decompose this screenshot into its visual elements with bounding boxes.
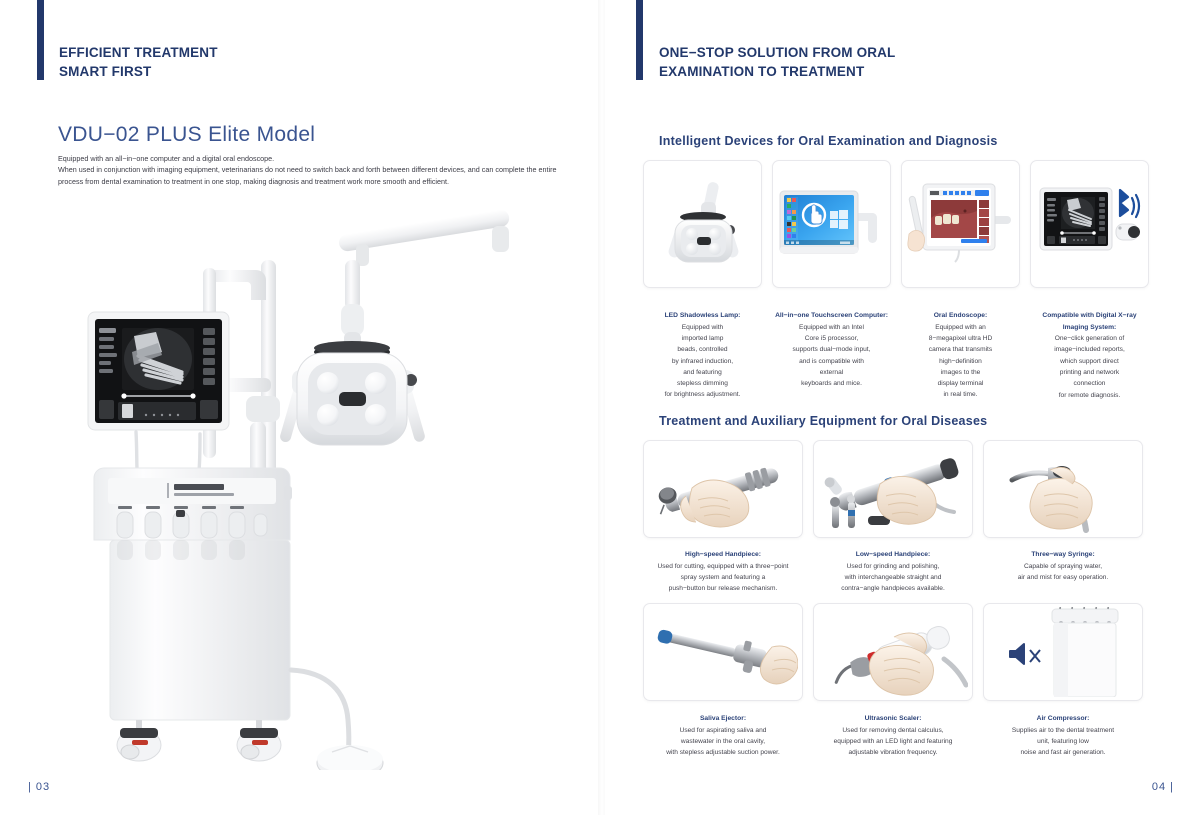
- lamp-arm-joint: [341, 260, 364, 354]
- page-title: VDU−02 PLUS Elite Model: [58, 123, 315, 147]
- caption-heading: LED Shadowless Lamp:: [643, 310, 762, 322]
- caption-heading: High−speed Handpiece:: [643, 549, 803, 561]
- caption-all-in-one-touchscreen-computer: All−in−one Touchscreen Computer: Equippe…: [772, 310, 891, 401]
- lamp-support-arm: [338, 209, 511, 266]
- caption-heading: Three−way Syringe:: [983, 549, 1143, 561]
- caption-heading: Saliva Ejector:: [643, 713, 803, 725]
- card-low-speed-handpiece[interactable]: [813, 440, 973, 538]
- header-accent-bar-right: [636, 0, 643, 80]
- card-three-way-syringe[interactable]: [983, 440, 1143, 538]
- led-shadowless-lamp-icon: [653, 174, 753, 274]
- caption-led-shadowless-lamp: LED Shadowless Lamp: Equipped with impor…: [643, 310, 762, 401]
- section-title-treatment: Treatment and Auxiliary Equipment for Or…: [659, 414, 987, 428]
- caption-body: Used for grinding and polishing, with in…: [813, 561, 973, 595]
- card-led-shadowless-lamp[interactable]: [643, 160, 762, 288]
- left-page: EFFICIENT TREATMENT SMART FIRST VDU−02 P…: [0, 0, 601, 815]
- caption-high-speed-handpiece: High−speed Handpiece: Used for cutting, …: [643, 549, 803, 595]
- three-way-syringe-icon: [988, 444, 1138, 534]
- caption-body: Used for removing dental calculus, equip…: [813, 725, 973, 759]
- gloved-hand: [1030, 467, 1092, 529]
- foot-pedal: [291, 670, 383, 770]
- caption-oral-endoscope: Oral Endoscope: Equipped with an 8−megap…: [901, 310, 1020, 401]
- high-speed-handpiece-icon: [648, 444, 798, 534]
- monitor-display: [88, 312, 229, 430]
- right-page: ONE−STOP SOLUTION FROM ORAL EXAMINATION …: [601, 0, 1202, 815]
- caption-body: One−click generation of image−included r…: [1030, 333, 1149, 401]
- product-description: Equipped with an all−in−one computer and…: [58, 153, 563, 187]
- treatment-captions-row1: High−speed Handpiece: Used for cutting, …: [643, 549, 1143, 595]
- hand-holding-probe: [907, 196, 924, 251]
- caption-heading: Air Compressor:: [983, 713, 1143, 725]
- ultrasonic-scaler-icon: [818, 607, 968, 697]
- caption-body: Equipped with imported lamp beads, contr…: [643, 322, 762, 401]
- diagnosis-card-grid: [643, 160, 1149, 288]
- caption-body: Used for cutting, equipped with a three−…: [643, 561, 803, 595]
- dental-unit-illustration: [60, 200, 540, 770]
- low-noise-icon: [1010, 644, 1040, 664]
- caption-heading: Low−speed Handpiece:: [813, 549, 973, 561]
- caption-saliva-ejector: Saliva Ejector: Used for aspirating sali…: [643, 713, 803, 759]
- gloved-hand: [760, 646, 798, 684]
- header-accent-bar-left: [37, 0, 44, 80]
- hero-product-image: [60, 200, 540, 770]
- caption-heading: Ultrasonic Scaler:: [813, 713, 973, 725]
- card-ultrasonic-scaler[interactable]: [813, 603, 973, 701]
- control-console: [94, 468, 292, 540]
- caption-low-speed-handpiece: Low−speed Handpiece: Used for grinding a…: [813, 549, 973, 595]
- card-saliva-ejector[interactable]: [643, 603, 803, 701]
- oral-endoscope-icon: [907, 178, 1015, 270]
- led-lamp-head: [279, 341, 426, 445]
- caption-body: Capable of spraying water, air and mist …: [983, 561, 1143, 584]
- caption-heading: Oral Endoscope:: [901, 310, 1020, 322]
- caption-body: Used for aspirating saliva and wastewate…: [643, 725, 803, 759]
- card-digital-xray-imaging-system[interactable]: [1030, 160, 1149, 288]
- section-title-diagnosis: Intelligent Devices for Oral Examination…: [659, 134, 998, 148]
- brochure-spread: EFFICIENT TREATMENT SMART FIRST VDU−02 P…: [0, 0, 1202, 815]
- touchscreen-computer-icon: [778, 183, 886, 265]
- caption-heading: All−in−one Touchscreen Computer:: [772, 310, 891, 322]
- left-page-kicker: EFFICIENT TREATMENT SMART FIRST: [59, 43, 218, 81]
- diagnosis-captions: LED Shadowless Lamp: Equipped with impor…: [643, 310, 1149, 401]
- page-number-left: | 03: [28, 781, 50, 793]
- right-page-kicker: ONE−STOP SOLUTION FROM ORAL EXAMINATION …: [659, 43, 895, 81]
- digital-xray-system-icon: [1036, 178, 1144, 270]
- caption-body: Supplies air to the dental treatment uni…: [983, 725, 1143, 759]
- treatment-card-grid-row2: [643, 603, 1143, 701]
- card-all-in-one-touchscreen-computer[interactable]: [772, 160, 891, 288]
- cart-cabinet: [110, 540, 290, 720]
- bluetooth-icon: [1120, 190, 1139, 217]
- caption-body: Equipped with an Intel Core i5 processor…: [772, 322, 891, 390]
- page-number-right: 04 |: [1152, 781, 1174, 793]
- caster-wheels: [117, 720, 281, 761]
- treatment-captions-row2: Saliva Ejector: Used for aspirating sali…: [643, 713, 1143, 759]
- saliva-ejector-icon: [648, 607, 798, 697]
- caption-ultrasonic-scaler: Ultrasonic Scaler: Used for removing den…: [813, 713, 973, 759]
- caption-three-way-syringe: Three−way Syringe: Capable of spraying w…: [983, 549, 1143, 595]
- treatment-card-grid-row1: [643, 440, 1143, 538]
- caption-body: Equipped with an 8−megapixel ultra HD ca…: [901, 322, 1020, 401]
- caption-heading: Compatible with Digital X−ray Imaging Sy…: [1030, 310, 1149, 333]
- card-high-speed-handpiece[interactable]: [643, 440, 803, 538]
- caption-air-compressor: Air Compressor: Supplies air to the dent…: [983, 713, 1143, 759]
- caption-digital-xray-imaging-system: Compatible with Digital X−ray Imaging Sy…: [1030, 310, 1149, 401]
- air-compressor-icon: [988, 607, 1138, 697]
- low-speed-handpiece-icon: [818, 444, 968, 534]
- card-air-compressor[interactable]: [983, 603, 1143, 701]
- xray-sensor: [1116, 224, 1140, 240]
- card-oral-endoscope[interactable]: [901, 160, 1020, 288]
